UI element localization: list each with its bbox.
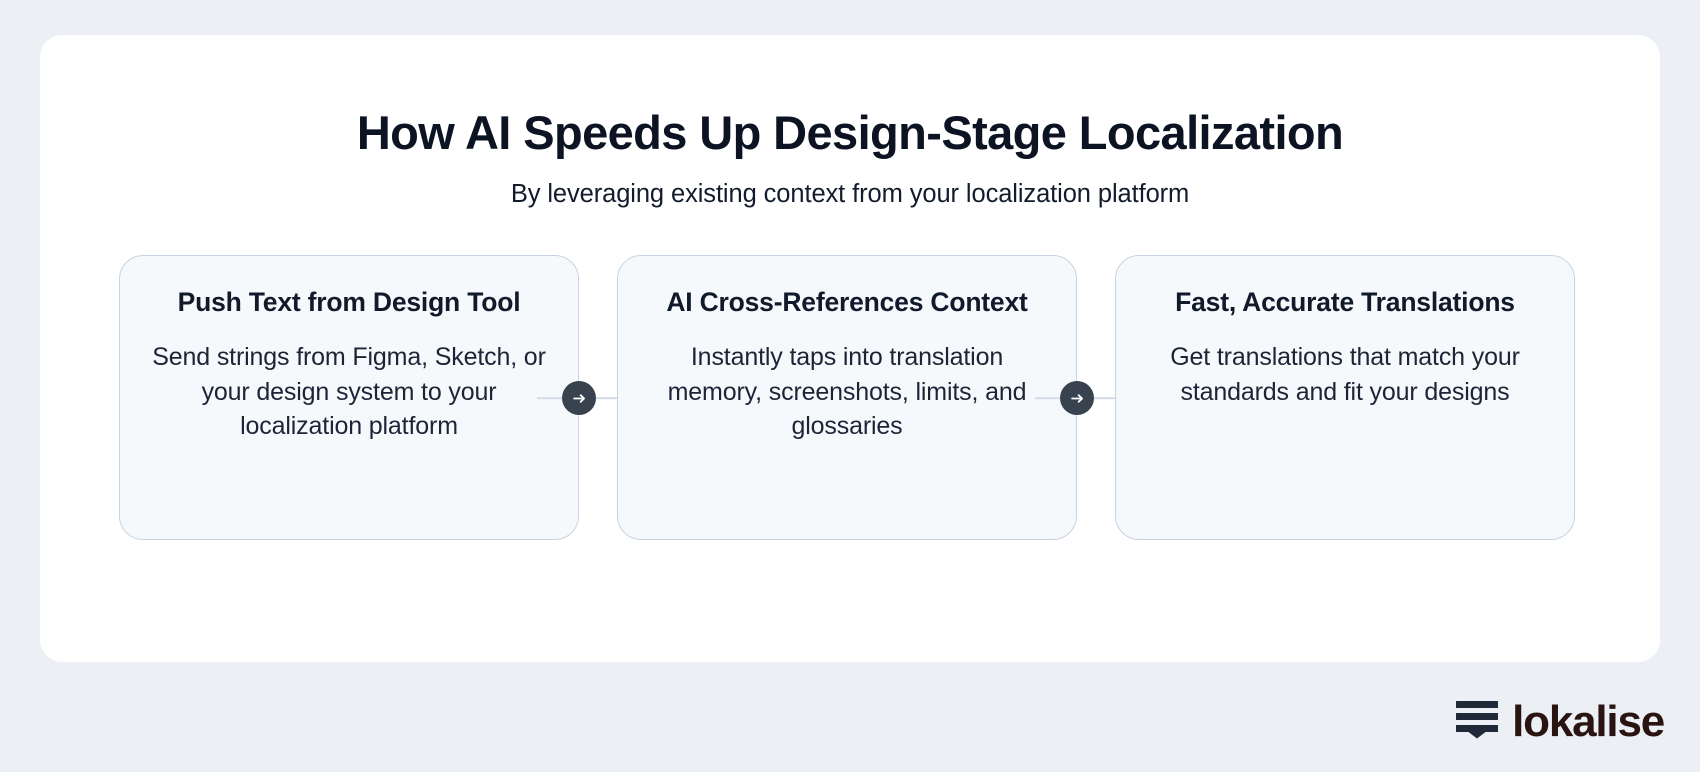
lokalise-bars-chevron-icon (1455, 699, 1499, 744)
step-body-3: Get translations that match your standar… (1142, 340, 1548, 409)
infographic-canvas: How AI Speeds Up Design-Stage Localizati… (0, 0, 1700, 772)
page-subtitle: By leveraging existing context from your… (40, 178, 1660, 211)
steps-row: Push Text from Design Tool Send strings … (80, 255, 1700, 545)
lokalise-logo: lokalise (1455, 699, 1664, 744)
step-title-3: Fast, Accurate Translations (1175, 286, 1515, 318)
arrow-right-icon (562, 381, 596, 415)
step-card-1: Push Text from Design Tool Send strings … (119, 255, 579, 540)
step-connector-2 (1035, 381, 1119, 415)
arrow-right-icon (1060, 381, 1094, 415)
step-card-3: Fast, Accurate Translations Get translat… (1115, 255, 1575, 540)
step-card-2: AI Cross-References Context Instantly ta… (617, 255, 1077, 540)
step-body-1: Send strings from Figma, Sketch, or your… (146, 340, 552, 444)
step-title-2: AI Cross-References Context (666, 286, 1027, 318)
lokalise-wordmark: lokalise (1512, 700, 1664, 744)
header-block: How AI Speeds Up Design-Stage Localizati… (40, 107, 1660, 211)
step-title-1: Push Text from Design Tool (178, 286, 521, 318)
page-title: How AI Speeds Up Design-Stage Localizati… (40, 107, 1660, 160)
content-panel: How AI Speeds Up Design-Stage Localizati… (40, 35, 1660, 662)
step-body-2: Instantly taps into translation memory, … (644, 340, 1050, 444)
step-connector-1 (537, 381, 621, 415)
